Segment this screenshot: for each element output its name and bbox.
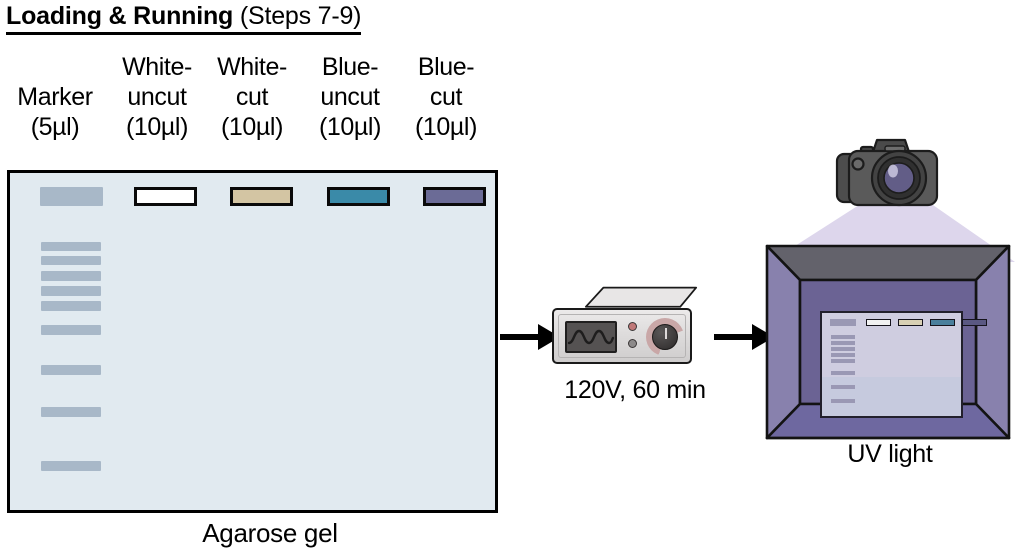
power-supply-label: 120V, 60 min	[540, 376, 730, 405]
uv-gel-well-marker	[830, 319, 856, 326]
uv-gel-well-white-uncut	[866, 319, 891, 326]
gel-well-white-cut	[230, 187, 293, 206]
lane-header-row: Marker(5µl)White-uncut(10µl)White-cut(10…	[0, 52, 500, 167]
marker-band	[41, 256, 101, 265]
standby-led-icon	[628, 339, 637, 348]
lane-header-blue-cut: Blue-cut(10µl)	[386, 52, 506, 142]
uv-light-label: UV light	[790, 440, 990, 469]
marker-band	[41, 301, 101, 311]
gel-well-blue-cut	[423, 187, 486, 206]
marker-band	[41, 271, 101, 281]
uv-marker-band	[831, 341, 855, 345]
uv-marker-band	[831, 371, 855, 375]
uv-marker-band	[831, 385, 855, 389]
agarose-gel-label: Agarose gel	[125, 518, 415, 549]
marker-band	[41, 461, 101, 471]
diagram-canvas: Loading & Running (Steps 7-9) Marker(5µl…	[0, 0, 1024, 559]
power-supply-top-panel	[552, 286, 714, 310]
page-title: Loading & Running (Steps 7-9)	[6, 2, 361, 35]
power-led-icon	[628, 322, 637, 331]
arrow-shaft	[714, 334, 754, 340]
gel-well-white-uncut	[134, 187, 197, 206]
lane-header-line2: cut	[386, 82, 506, 112]
uv-marker-band	[831, 353, 855, 357]
marker-band	[41, 407, 101, 417]
lane-header-line1: Blue-	[386, 52, 506, 82]
uv-gel-well-blue-uncut	[930, 319, 955, 326]
title-steps-part: (Steps 7-9)	[233, 2, 361, 30]
dslr-camera-icon	[833, 134, 945, 226]
uv-marker-band	[831, 347, 855, 351]
marker-band	[41, 325, 101, 335]
marker-band	[41, 286, 101, 296]
uv-gel-well-blue-cut	[962, 319, 987, 326]
dial-knob[interactable]	[652, 324, 678, 350]
uv-transilluminator-box	[757, 242, 1019, 442]
voltage-dial-icon[interactable]	[646, 318, 684, 356]
dial-indicator	[665, 328, 667, 339]
agarose-gel	[7, 170, 498, 513]
lane-header-volume: (10µl)	[386, 112, 506, 142]
uv-marker-band	[831, 359, 855, 363]
uv-marker-band	[831, 399, 855, 403]
uv-gel-panel	[820, 311, 963, 418]
marker-band	[41, 242, 101, 251]
sine-wave-display-icon	[565, 321, 617, 353]
arrow-gel-to-power-supply	[500, 322, 560, 352]
arrow-shaft	[500, 334, 540, 340]
title-bold-part: Loading & Running	[6, 2, 233, 30]
uv-gel-well-white-cut	[898, 319, 923, 326]
gel-well-blue-uncut	[327, 187, 390, 206]
gel-well-marker	[40, 187, 103, 206]
marker-band	[41, 365, 101, 375]
power-supply-front-panel	[552, 308, 692, 364]
uv-marker-band	[831, 335, 855, 339]
power-supply	[552, 286, 714, 364]
